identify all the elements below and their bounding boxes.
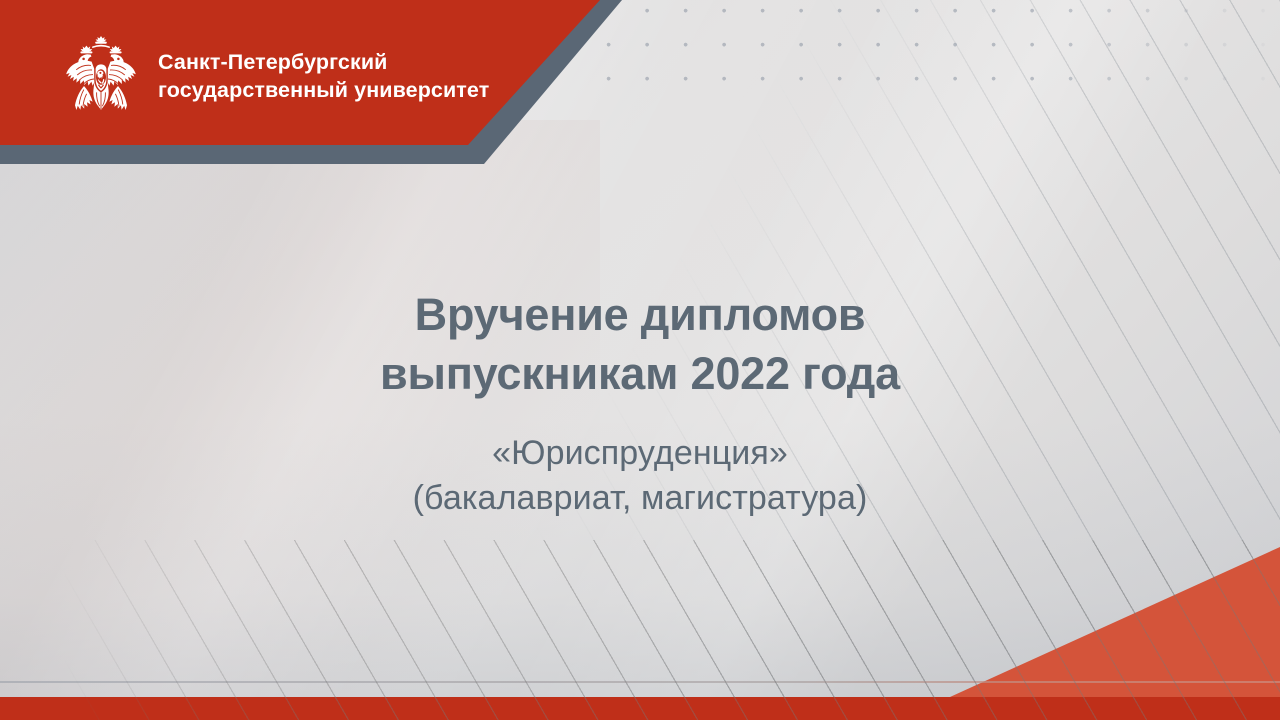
- slide-title: Вручение дипломов выпускникам 2022 года: [0, 286, 1280, 403]
- university-logo-lockup: Санкт-Петербургский государственный унив…: [62, 34, 489, 120]
- thin-divider-rule: [0, 681, 1280, 683]
- bottom-accent-bar: [0, 697, 1280, 720]
- slide-subtitle: «Юриспруденция» (бакалавриат, магистрату…: [0, 431, 1280, 521]
- university-name: Санкт-Петербургский государственный унив…: [158, 49, 489, 105]
- presentation-slide: Санкт-Петербургский государственный унив…: [0, 0, 1280, 720]
- double-headed-eagle-emblem: [62, 34, 140, 120]
- header-banner: Санкт-Петербургский государственный унив…: [0, 0, 640, 166]
- slide-content: Вручение дипломов выпускникам 2022 года …: [0, 286, 1280, 521]
